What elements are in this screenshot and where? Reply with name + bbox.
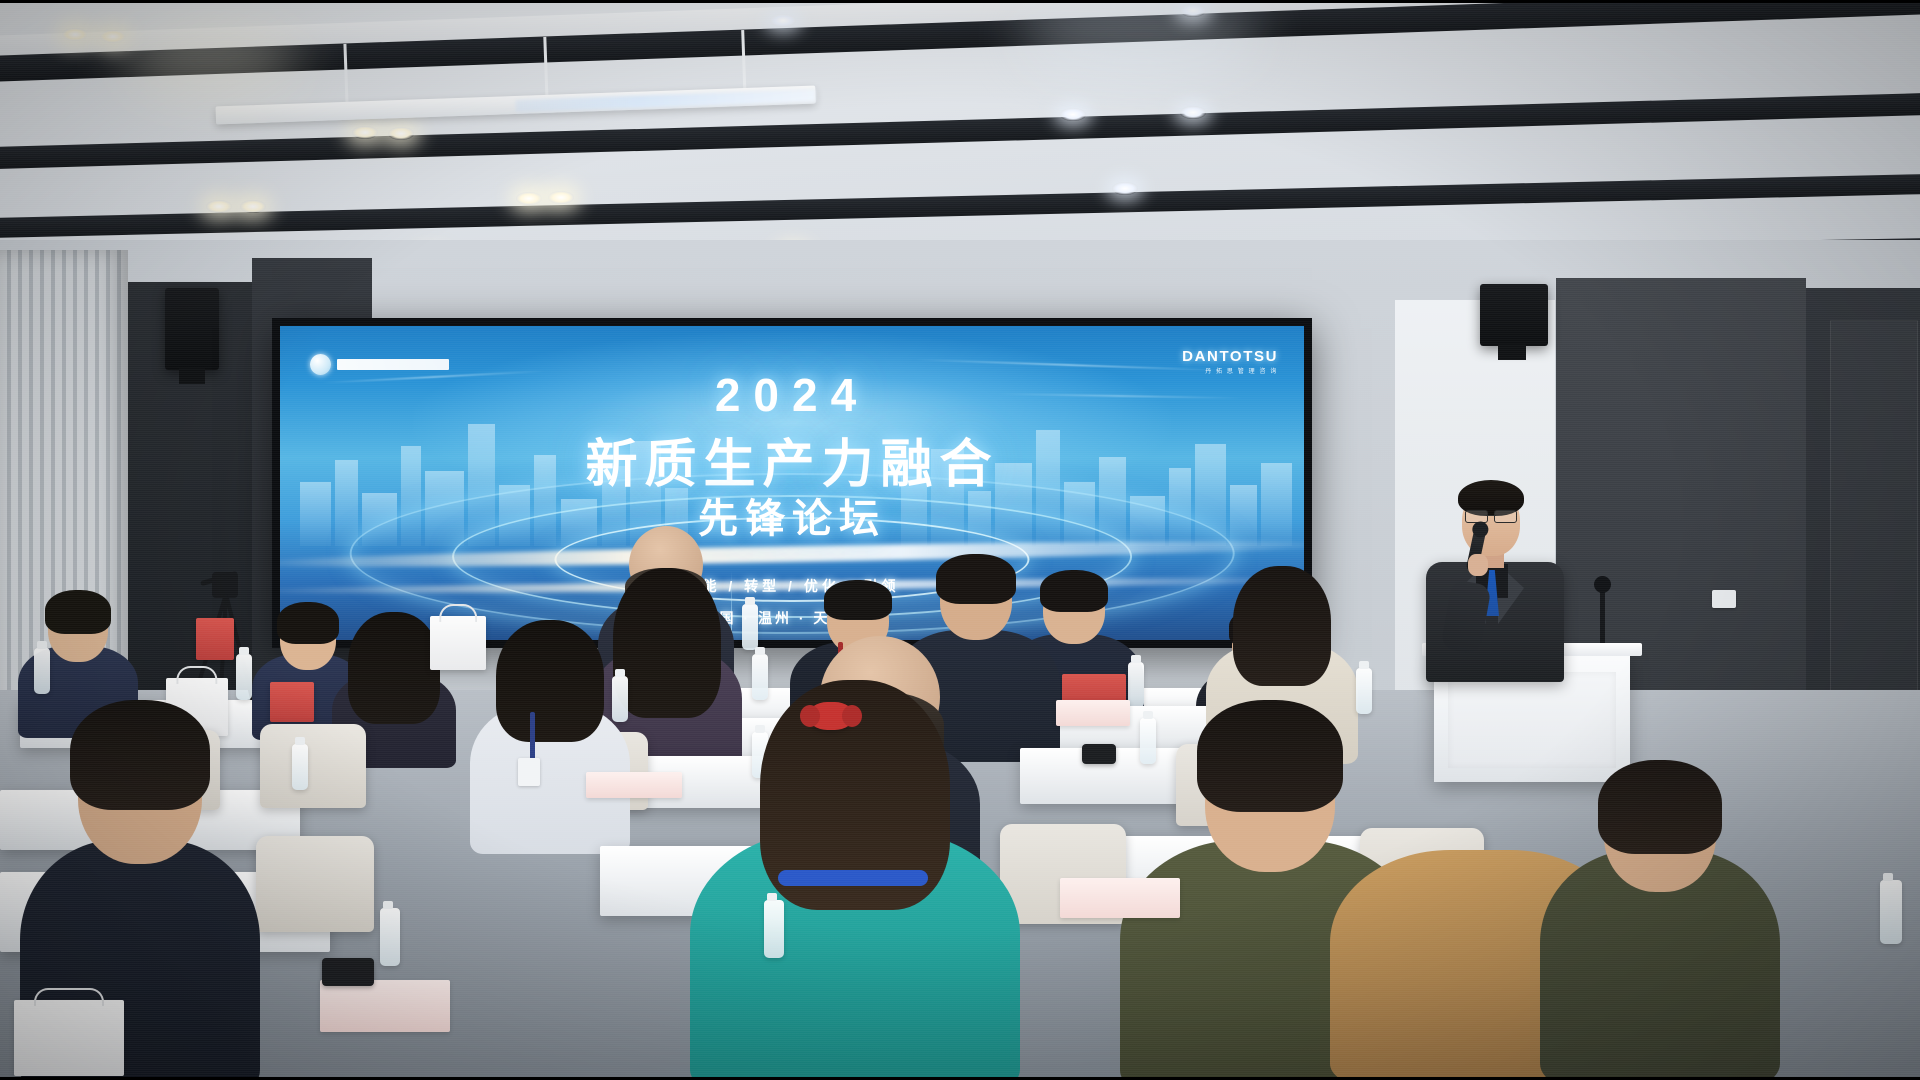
presenter	[1416, 478, 1576, 678]
conference-hall-scene: 主办单位标识 DANTOTSU 丹 拓 思 管 理 咨 询 2024 新质生产力…	[0, 0, 1920, 1080]
audience-p12	[690, 680, 1020, 1080]
ceiling-spotlight	[100, 30, 126, 43]
phone	[322, 958, 374, 986]
printed-handout	[586, 772, 682, 798]
ceiling-spotlight	[1112, 182, 1138, 195]
ceiling-spotlight	[206, 200, 232, 213]
slide-subtitle: 先锋论坛	[280, 486, 1304, 544]
white-paper-bag	[14, 1000, 124, 1076]
wall-door-right[interactable]	[1830, 320, 1918, 752]
glasses-icon	[1465, 510, 1517, 521]
audience-p14b	[1540, 760, 1780, 1080]
ceiling-spotlight	[548, 191, 574, 204]
wall-speaker-left	[165, 288, 219, 370]
red-gift-box	[270, 682, 314, 722]
slide-year: 2024	[280, 368, 1304, 422]
chair	[256, 836, 374, 932]
ceiling-spotlight	[62, 28, 88, 41]
phone	[1082, 744, 1116, 764]
printed-handout	[320, 980, 450, 1032]
audience-p10	[470, 620, 630, 850]
printed-handout	[1060, 878, 1180, 918]
ceiling-spotlight	[352, 126, 378, 139]
ceiling-spotlight	[516, 192, 542, 205]
ceiling-spotlight	[770, 14, 796, 27]
sponsor-brand-name: DANTOTSU	[1182, 348, 1278, 365]
ceiling-light-channel-3	[0, 173, 1920, 238]
ceiling-spotlight	[388, 127, 414, 140]
printed-handout	[1056, 700, 1130, 726]
ceiling-spotlight	[240, 200, 266, 213]
ceiling-spotlight	[1060, 108, 1086, 121]
hair-bow	[808, 702, 854, 730]
ceiling-spotlight	[1180, 106, 1206, 119]
wall-switch-plate[interactable]	[1712, 590, 1736, 608]
ceiling-spotlight	[1180, 4, 1206, 17]
chair	[260, 724, 366, 808]
wall-speaker-right	[1480, 284, 1548, 346]
red-gift-box	[196, 618, 234, 660]
letterbox-top	[0, 0, 1920, 3]
